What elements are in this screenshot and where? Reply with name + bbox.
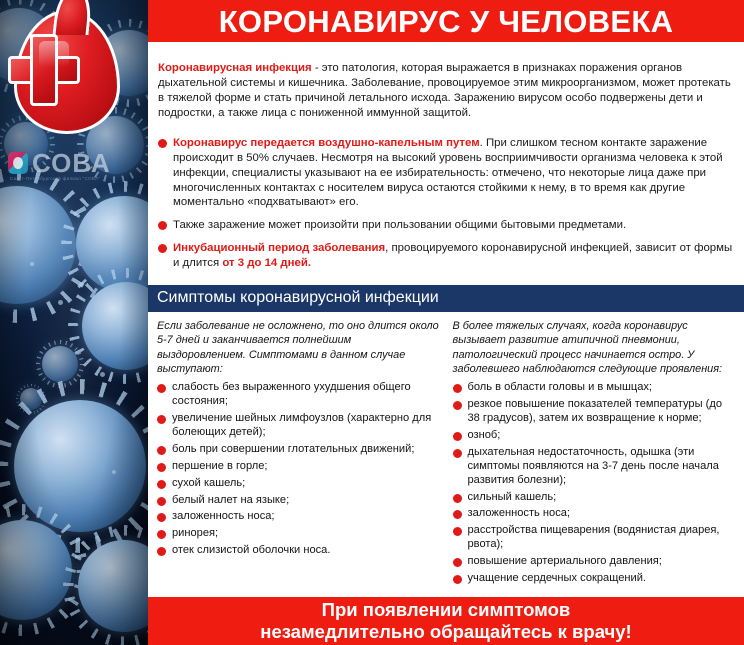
list-item: расстройства пищеварения (водянистая диа… <box>453 524 737 552</box>
virus-particle-icon <box>0 520 72 620</box>
sova-mark-icon <box>8 152 28 174</box>
content-area: КОРОНАВИРУС У ЧЕЛОВЕКА Коронавирусная ин… <box>148 0 744 645</box>
list-item: боль при совершении глотательных движени… <box>157 443 441 457</box>
intro-lead: Коронавирусная инфекция <box>158 62 312 74</box>
mild-intro-text: Если заболевание не осложнено, то оно дл… <box>157 319 441 377</box>
footer-call-to-action: При появлении симптомов незамедлительно … <box>148 597 744 645</box>
list-item: учащение сердечных сокращений. <box>453 572 737 586</box>
symptoms-column-mild: Если заболевание не осложнено, то оно дл… <box>157 319 441 597</box>
section-header-symptoms: Симптомы коронавирусной инфекции <box>148 285 744 312</box>
symptom-text: заложенность носа; <box>468 507 571 521</box>
virus-particle-icon <box>42 346 78 382</box>
bullet-dot-icon <box>157 513 166 522</box>
top-bullet-text: Также заражение может произойти при поль… <box>173 218 626 233</box>
symptom-text: повышение артериального давления; <box>468 555 662 569</box>
symptom-text: заложенность носа; <box>172 510 275 524</box>
list-item: сухой кашель; <box>157 477 441 491</box>
virus-particle-icon <box>78 540 148 632</box>
sova-tagline: Санкт-Петербургский филиал "СОВА" <box>10 176 136 181</box>
bullet-dot-icon <box>453 558 462 567</box>
list-item: боль в области головы и в мышцах; <box>453 381 737 395</box>
bullet-dot-icon <box>453 494 462 503</box>
section-title: Симптомы коронавирусной инфекции <box>148 290 439 306</box>
list-item: резкое повышение показателей температуры… <box>453 398 737 426</box>
bullet-dot-icon <box>453 401 462 410</box>
cross-bar-vertical <box>30 34 58 106</box>
symptom-text: боль в области головы и в мышцах; <box>468 381 653 395</box>
symptom-text: белый налет на языке; <box>172 494 289 508</box>
bullet-dot-icon <box>157 547 166 556</box>
top-bullet-item: Коронавирус передается воздушно-капельны… <box>158 136 734 210</box>
list-item: заложенность носа; <box>453 507 737 521</box>
bullet-dot-icon <box>453 510 462 519</box>
bullet-dot-icon <box>453 384 462 393</box>
footer-line-2: незамедлительно обращайтесь к врачу! <box>260 621 631 643</box>
particle-speck <box>30 262 34 266</box>
list-item: першение в горле; <box>157 460 441 474</box>
virus-image-sidebar: СОВА Санкт-Петербургский филиал "СОВА" <box>0 0 148 645</box>
list-item: сильный кашель; <box>453 491 737 505</box>
top-bullet-list: Коронавирус передается воздушно-капельны… <box>148 134 744 283</box>
bullet-dot-icon <box>453 527 462 536</box>
symptom-text: слабость без выраженного ухудшения общег… <box>172 381 441 409</box>
symptom-text: першение в горле; <box>172 460 267 474</box>
bullet-dot-icon <box>158 139 167 148</box>
list-item: озноб; <box>453 429 737 443</box>
medical-cross-icon <box>8 34 80 106</box>
bullet-dot-icon <box>158 244 167 253</box>
top-bullet-highlight-tail: от 3 до 14 дней. <box>222 257 311 269</box>
sova-watermark-logo: СОВА <box>8 150 111 176</box>
bullet-dot-icon <box>157 480 166 489</box>
symptom-text: увеличение шейных лимфоузлов (характерно… <box>172 412 441 440</box>
symptom-text: боль при совершении глотательных движени… <box>172 443 414 457</box>
blood-drop-cross-logo <box>6 6 130 138</box>
symptom-text: сухой кашель; <box>172 477 245 491</box>
bullet-dot-icon <box>157 446 166 455</box>
symptom-text: сильный кашель; <box>468 491 557 505</box>
sova-brand-text: СОВА <box>32 150 111 176</box>
list-item: увеличение шейных лимфоузлов (характерно… <box>157 412 441 440</box>
symptom-text: отек слизистой оболочки носа. <box>172 544 330 558</box>
symptom-text: ринорея; <box>172 527 218 541</box>
infographic-poster: СОВА Санкт-Петербургский филиал "СОВА" К… <box>0 0 744 645</box>
list-item: слабость без выраженного ухудшения общег… <box>157 381 441 409</box>
list-item: белый налет на языке; <box>157 494 441 508</box>
symptom-text: резкое повышение показателей температуры… <box>468 398 737 426</box>
mild-symptom-list: слабость без выраженного ухудшения общег… <box>157 381 441 559</box>
list-item: повышение артериального давления; <box>453 555 737 569</box>
bullet-dot-icon <box>157 530 166 539</box>
symptom-text: учащение сердечных сокращений. <box>468 572 646 586</box>
top-bullet-item: Также заражение может произойти при поль… <box>158 218 734 233</box>
particle-speck <box>58 300 63 305</box>
top-bullet-body: Также заражение может произойти при поль… <box>173 219 626 231</box>
symptom-text: расстройства пищеварения (водянистая диа… <box>468 524 737 552</box>
footer-line-1: При появлении симптомов <box>322 599 571 621</box>
top-bullet-text: Инкубационный период заболевания, провоц… <box>173 241 734 271</box>
title-banner: КОРОНАВИРУС У ЧЕЛОВЕКА <box>148 0 744 42</box>
top-bullet-text: Коронавирус передается воздушно-капельны… <box>173 136 734 210</box>
top-bullet-highlight: Инкубационный период заболевания <box>173 242 385 254</box>
page-title: КОРОНАВИРУС У ЧЕЛОВЕКА <box>219 6 674 37</box>
bullet-dot-icon <box>157 384 166 393</box>
symptoms-column-severe: В более тяжелых случаях, когда коронавир… <box>453 319 737 597</box>
symptom-text: дыхательная недостаточность, одышка (эти… <box>468 446 737 488</box>
list-item: ринорея; <box>157 527 441 541</box>
list-item: дыхательная недостаточность, одышка (эти… <box>453 446 737 488</box>
severe-symptom-list: боль в области головы и в мышцах; резкое… <box>453 381 737 587</box>
particle-speck <box>100 372 105 377</box>
list-item: заложенность носа; <box>157 510 441 524</box>
list-item: отек слизистой оболочки носа. <box>157 544 441 558</box>
bullet-dot-icon <box>453 432 462 441</box>
particle-speck <box>112 470 116 474</box>
symptom-text: озноб; <box>468 429 501 443</box>
severe-intro-text: В более тяжелых случаях, когда коронавир… <box>453 319 737 377</box>
cross-gloss <box>39 41 69 67</box>
bullet-dot-icon <box>158 221 167 230</box>
symptoms-columns: Если заболевание не осложнено, то оно дл… <box>148 312 744 597</box>
bullet-dot-icon <box>157 415 166 424</box>
bullet-dot-icon <box>157 497 166 506</box>
bullet-dot-icon <box>157 463 166 472</box>
intro-paragraph: Коронавирусная инфекция - это патология,… <box>148 53 744 122</box>
top-bullet-highlight: Коронавирус передается воздушно-капельны… <box>173 137 480 149</box>
top-bullet-item: Инкубационный период заболевания, провоц… <box>158 241 734 271</box>
bullet-dot-icon <box>453 449 462 458</box>
virus-particle-icon <box>82 282 148 370</box>
bullet-dot-icon <box>453 575 462 584</box>
